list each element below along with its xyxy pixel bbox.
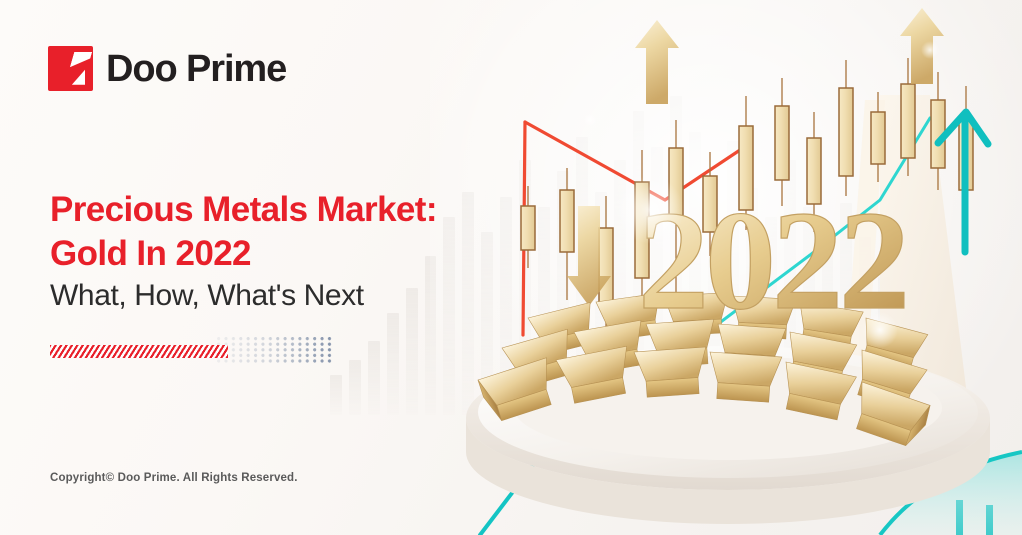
background-bar xyxy=(349,360,361,415)
decorative-rule xyxy=(50,337,335,367)
page-subtitle: What, How, What's Next xyxy=(50,278,364,314)
up-arrow-gold xyxy=(635,8,944,104)
background-bar xyxy=(387,313,399,415)
logo-flag-shape xyxy=(70,52,92,67)
headline-line-2: Gold In 2022 xyxy=(50,232,520,276)
brand-logo[interactable]: Doo Prime xyxy=(48,46,286,91)
promo-banner: 2022 Doo Prime Precious Metals Market: G… xyxy=(0,0,1022,535)
logo-triangle-shape xyxy=(72,69,86,84)
headline-line-1: Precious Metals Market: xyxy=(50,188,520,232)
brand-name: Doo Prime xyxy=(106,50,286,88)
diagonal-stripe-bar-icon xyxy=(50,345,228,358)
copyright-notice: Copyright© Doo Prime. All Rights Reserve… xyxy=(50,472,298,484)
background-bar xyxy=(330,375,342,415)
background-bar xyxy=(368,341,380,415)
page-title: Precious Metals Market: Gold In 2022 xyxy=(50,188,520,276)
dot-matrix-gradient-icon xyxy=(217,337,335,363)
doo-prime-logo-mark-icon xyxy=(48,46,93,91)
